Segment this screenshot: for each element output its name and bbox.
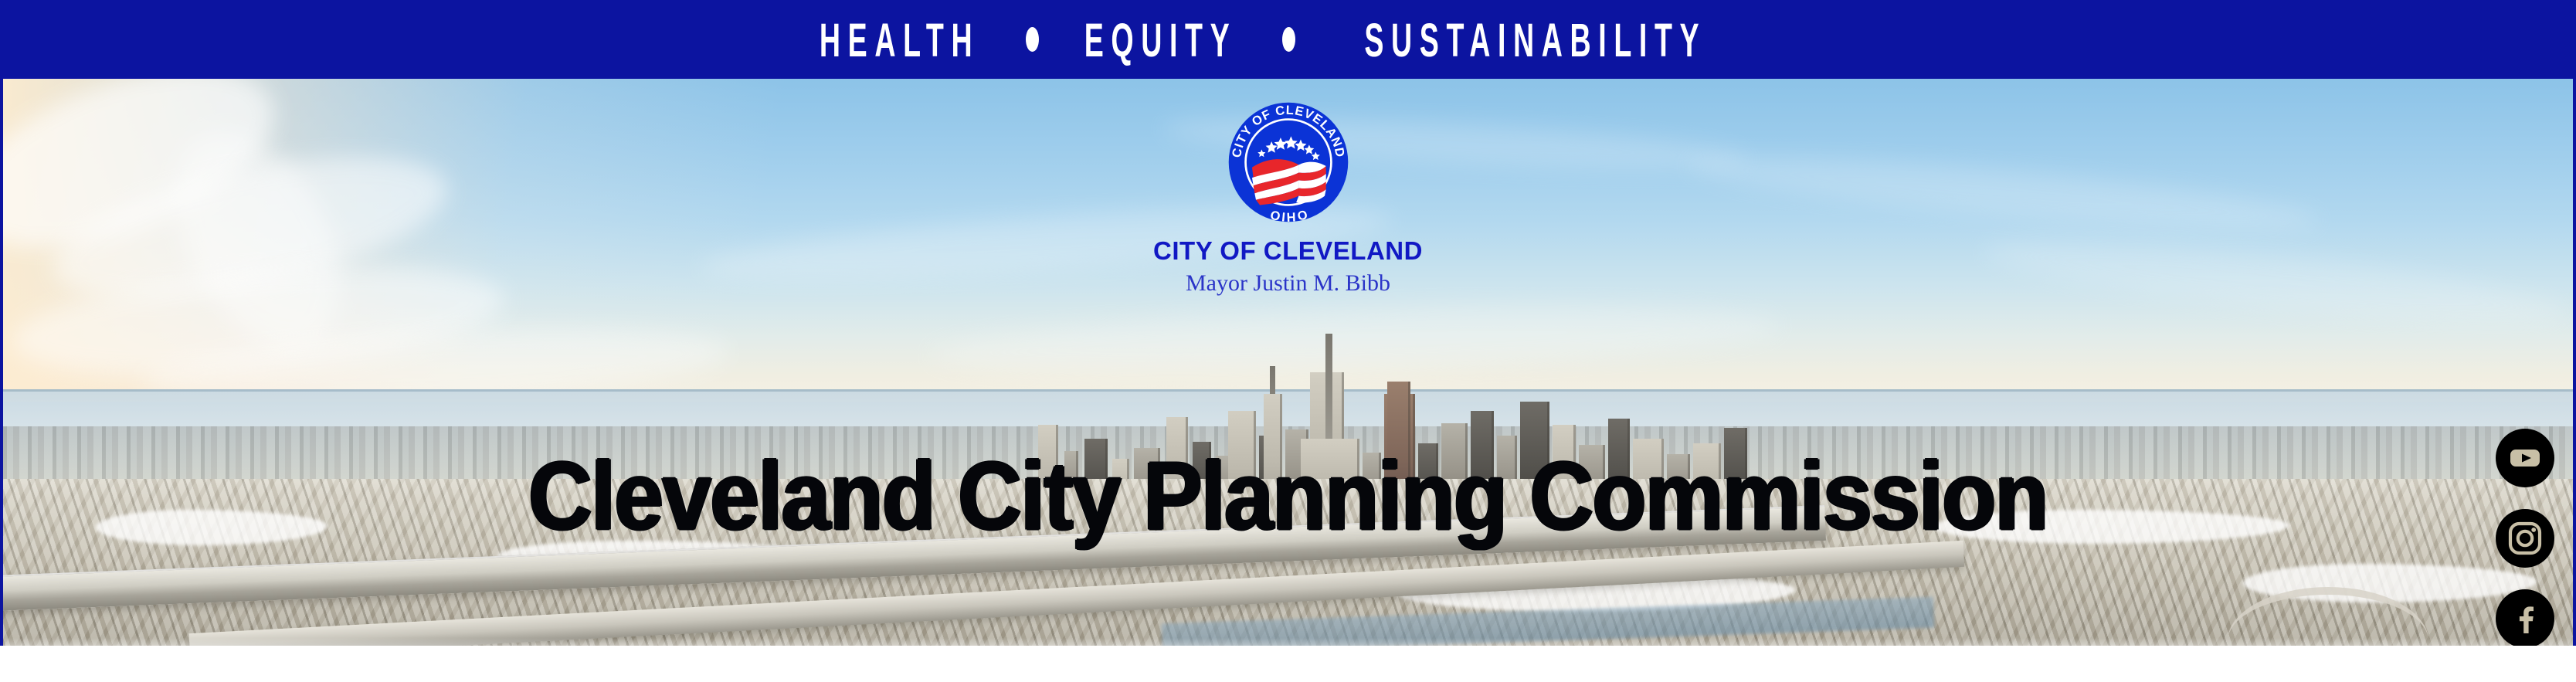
page-title: Cleveland City Planning Commission (0, 448, 2576, 545)
brand-lockup: CITY OF CLEVELAND OHIO (3, 97, 2573, 295)
tagline-word-health: HEALTH (820, 15, 979, 63)
hero-bottom-edge (3, 638, 2573, 646)
social-link-instagram[interactable] (2496, 509, 2554, 568)
tagline-word-sustainability: SUSTAINABILITY (1364, 15, 1706, 63)
tagline-separator-dot-2 (1282, 27, 1295, 52)
brand-city-name: CITY OF CLEVELAND (1153, 238, 1423, 263)
youtube-icon (2508, 441, 2542, 475)
facebook-icon (2508, 602, 2542, 636)
social-link-youtube[interactable] (2496, 429, 2554, 487)
social-links (2496, 429, 2554, 646)
tagline-banner: HEALTH EQUITY SUSTAINABILITY (0, 0, 2576, 79)
tagline-inner: HEALTH EQUITY SUSTAINABILITY (799, 22, 1750, 58)
brand-mayor-name: Mayor Justin M. Bibb (1186, 272, 1390, 295)
instagram-icon (2507, 521, 2543, 556)
tagline-separator-dot-1 (1026, 27, 1039, 52)
page-root: HEALTH EQUITY SUSTAINABILITY (0, 0, 2576, 682)
social-link-facebook[interactable] (2496, 589, 2554, 646)
hero-photo: CITY OF CLEVELAND OHIO (0, 77, 2576, 646)
city-seal-icon: CITY OF CLEVELAND OHIO (1224, 97, 1353, 227)
tagline-word-equity: EQUITY (1084, 15, 1237, 63)
